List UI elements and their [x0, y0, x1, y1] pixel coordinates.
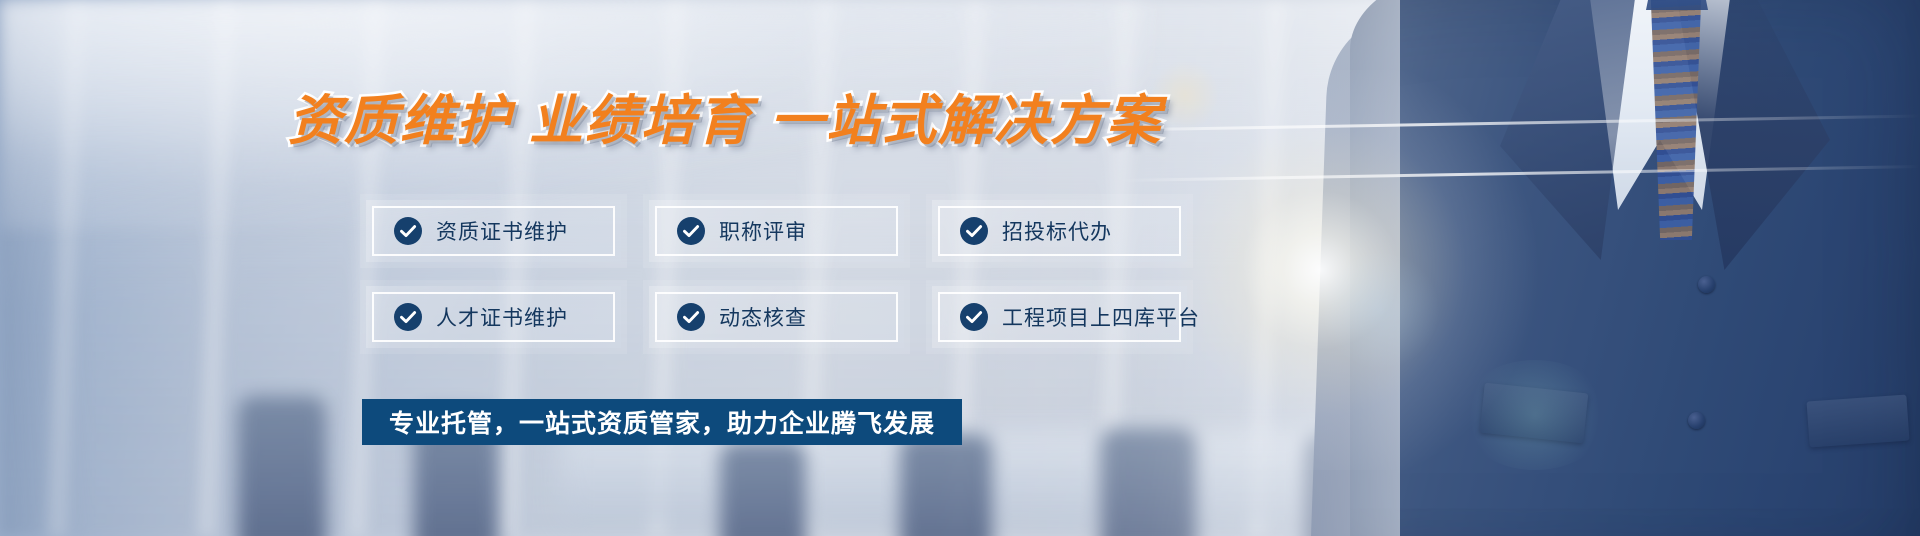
- check-circle-icon: [394, 217, 422, 245]
- feature-item-5-inner: 动态核查: [655, 292, 898, 342]
- feature-item-2[interactable]: 职称评审: [649, 200, 904, 262]
- feature-item-4[interactable]: 人才证书维护: [366, 286, 621, 348]
- tagline-text: 专业托管，一站式资质管家，助力企业腾飞发展: [389, 404, 935, 440]
- feature-item-6[interactable]: 工程项目上四库平台: [932, 286, 1187, 348]
- feature-item-1-label: 资质证书维护: [436, 216, 568, 246]
- feature-item-5[interactable]: 动态核查: [649, 286, 904, 348]
- feature-item-5-label: 动态核查: [719, 302, 807, 332]
- feature-item-2-label: 职称评审: [719, 216, 807, 246]
- feature-item-2-inner: 职称评审: [655, 206, 898, 256]
- feature-item-1[interactable]: 资质证书维护: [366, 200, 621, 262]
- tagline-bar: 专业托管，一站式资质管家，助力企业腾飞发展: [362, 399, 962, 445]
- check-circle-icon: [677, 217, 705, 245]
- check-circle-icon: [677, 303, 705, 331]
- feature-item-3[interactable]: 招投标代办: [932, 200, 1187, 262]
- feature-item-6-inner: 工程项目上四库平台: [938, 292, 1181, 342]
- feature-item-3-label: 招投标代办: [1002, 216, 1112, 246]
- check-circle-icon: [960, 217, 988, 245]
- feature-item-1-inner: 资质证书维护: [372, 206, 615, 256]
- feature-item-4-label: 人才证书维护: [436, 302, 568, 332]
- feature-item-3-inner: 招投标代办: [938, 206, 1181, 256]
- banner-content: 资质维护 业绩培育 一站式解决方案 资质证书维护 职: [0, 0, 1920, 536]
- feature-grid: 资质证书维护 职称评审 招投标代办: [366, 200, 1214, 356]
- feature-item-6-label: 工程项目上四库平台: [1002, 302, 1200, 332]
- check-circle-icon: [394, 303, 422, 331]
- check-circle-icon: [960, 303, 988, 331]
- promo-banner: 资质维护 业绩培育 一站式解决方案 资质证书维护 职: [0, 0, 1920, 536]
- banner-headline: 资质维护 业绩培育 一站式解决方案: [288, 76, 1162, 155]
- feature-item-4-inner: 人才证书维护: [372, 292, 615, 342]
